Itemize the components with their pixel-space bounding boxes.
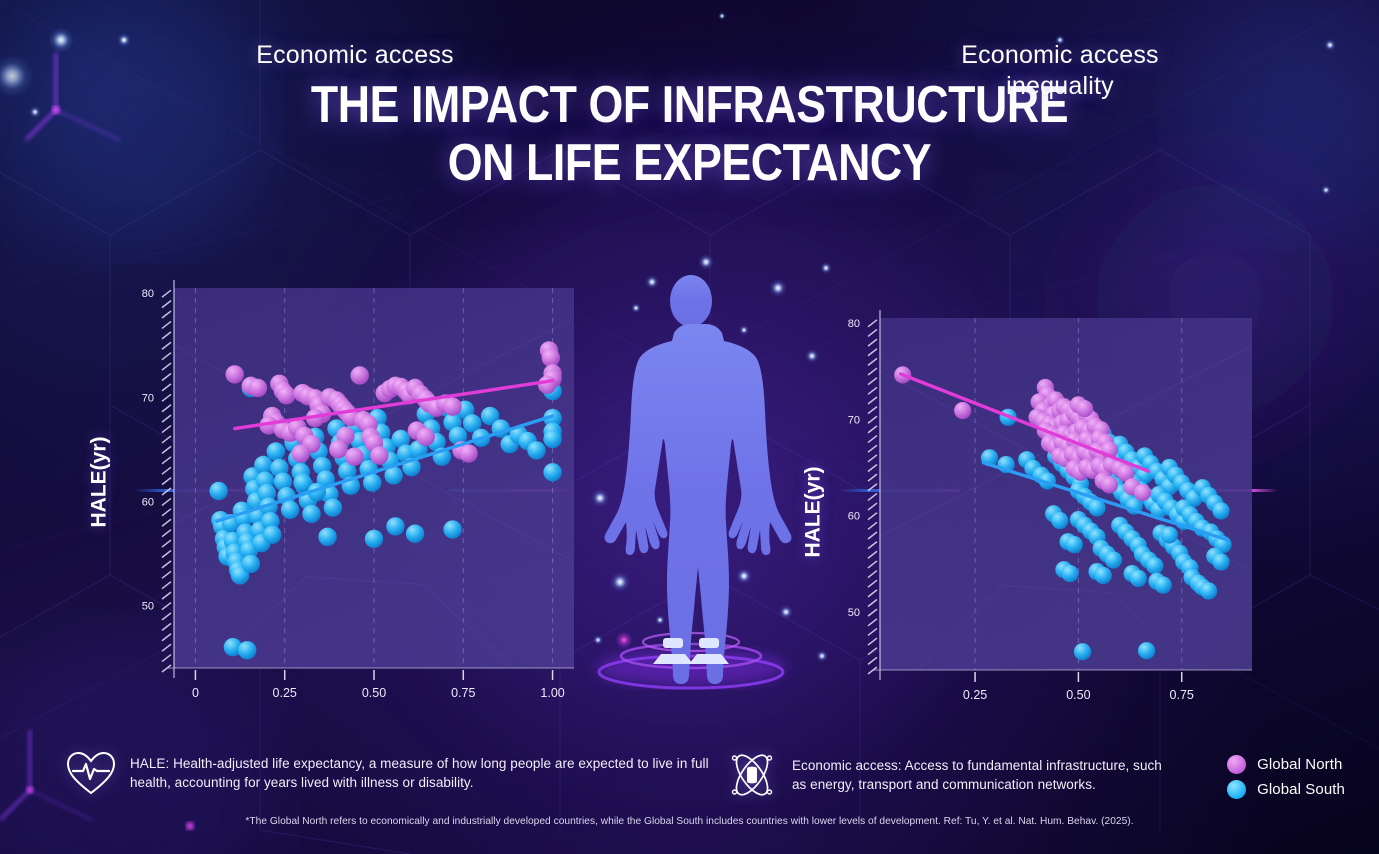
footnote: *The Global North refers to economically… — [21, 815, 1359, 827]
x-tick-label: 0.50 — [362, 686, 386, 700]
x-axis: 0.250.500.75 — [874, 670, 1252, 702]
legend-item-global-south: Global South — [1227, 777, 1345, 802]
chart-title-right: Economic access inequality — [950, 40, 1170, 101]
atom-database-icon — [726, 750, 778, 800]
definition-hale-text: HALE: Health-adjusted life expectancy, a… — [130, 754, 716, 792]
chart-title-right-line1: Economic access — [961, 41, 1159, 69]
x-axis: 00.250.500.751.00 — [168, 668, 574, 700]
legend-item-global-north: Global North — [1227, 752, 1345, 777]
legend-dot-global-south — [1227, 780, 1246, 799]
y-tick-label: 80 — [142, 288, 154, 300]
y-tick-label: 70 — [848, 414, 860, 426]
title-line-2: ON LIFE EXPECTANCY — [97, 134, 1283, 192]
x-tick-label: 1.00 — [540, 686, 564, 700]
y-axis: 50607080 — [848, 310, 880, 680]
heart-pulse-icon — [66, 750, 116, 796]
legend: Global North Global South — [1227, 752, 1345, 802]
y-tick-label: 60 — [848, 511, 860, 523]
human-body-silhouette — [566, 268, 816, 698]
definition-economic-access-text: Economic access: Access to fundamental i… — [792, 756, 1171, 794]
x-tick-label: 0.50 — [1066, 688, 1090, 702]
y-axis: 50607080 — [142, 280, 174, 678]
x-tick-label: 0.75 — [1170, 688, 1194, 702]
legend-label-global-north: Global North — [1257, 756, 1342, 773]
x-tick-label: 0.25 — [273, 686, 297, 700]
legend-label-global-south: Global South — [1257, 781, 1345, 798]
infographic-canvas: THE IMPACT OF INFRASTRUCTURE ON LIFE EXP… — [0, 0, 1379, 854]
definition-economic-access: Economic access: Access to fundamental i… — [726, 750, 1171, 800]
plot-area-left: 5060708000.250.500.751.00 — [100, 276, 590, 726]
legend-dot-global-north — [1227, 755, 1246, 774]
x-tick-label: 0.75 — [451, 686, 475, 700]
y-tick-label: 80 — [848, 318, 860, 330]
chart-title-left: Economic access — [255, 40, 455, 71]
plot-area-right: 506070800.250.500.75 — [812, 306, 1282, 726]
x-tick-label: 0.25 — [963, 688, 987, 702]
x-tick-label: 0 — [192, 686, 199, 700]
chart-title-right-line2: inequality — [1006, 72, 1114, 100]
y-tick-label: 60 — [142, 496, 154, 508]
definition-hale: HALE: Health-adjusted life expectancy, a… — [66, 750, 716, 796]
y-tick-label: 70 — [142, 392, 154, 404]
y-tick-label: 50 — [848, 607, 860, 619]
y-tick-label: 50 — [142, 601, 154, 613]
